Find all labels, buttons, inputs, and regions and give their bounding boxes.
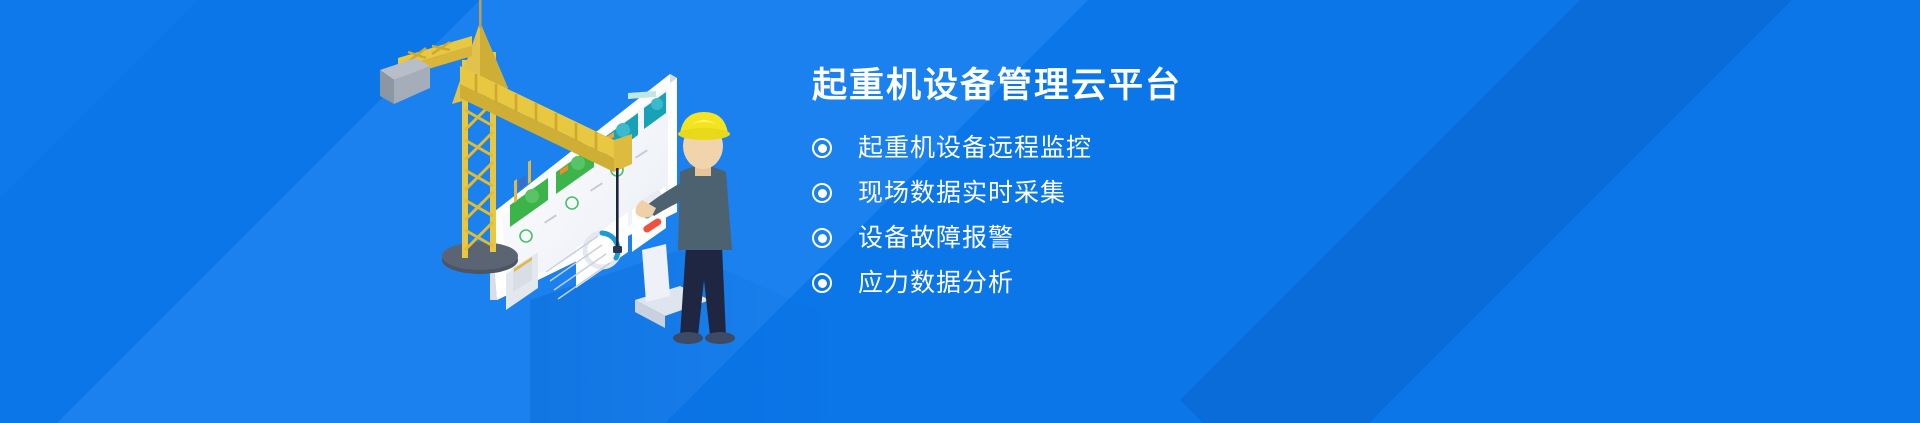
radio-dot-icon — [812, 183, 832, 203]
hard-hat-icon — [678, 112, 730, 140]
tower-crane-monitor-worker-illustration — [380, 0, 860, 423]
radio-dot-icon — [812, 228, 832, 248]
worker-shirt-icon — [678, 166, 732, 250]
feature-label: 设备故障报警 — [858, 226, 1014, 251]
crane-counterweight-icon — [380, 58, 430, 104]
feature-label: 起重机设备远程监控 — [858, 136, 1092, 161]
crane-base-icon — [442, 242, 518, 274]
feature-item-4: 应力数据分析 — [812, 264, 1512, 302]
worker-shoe-icon — [705, 332, 735, 344]
feature-list: 起重机设备远程监控 现场数据实时采集 设备故障报警 应力数据分析 — [812, 129, 1512, 302]
hero-copy: 起重机设备管理云平台 起重机设备远程监控 现场数据实时采集 设备故障报警 应力数… — [812, 68, 1512, 309]
feature-label: 应力数据分析 — [858, 271, 1014, 296]
radio-dot-icon — [812, 138, 832, 158]
page-title: 起重机设备管理云平台 — [812, 68, 1512, 103]
hero-banner: 起重机设备管理云平台 起重机设备远程监控 现场数据实时采集 设备故障报警 应力数… — [0, 0, 1920, 423]
crane-main-jib-icon — [460, 66, 632, 172]
radio-dot-icon — [812, 273, 832, 293]
feature-item-1: 起重机设备远程监控 — [812, 129, 1512, 167]
feature-item-2: 现场数据实时采集 — [812, 174, 1512, 212]
worker-shoe-icon — [673, 332, 703, 344]
feature-item-3: 设备故障报警 — [812, 219, 1512, 257]
feature-label: 现场数据实时采集 — [858, 181, 1066, 206]
